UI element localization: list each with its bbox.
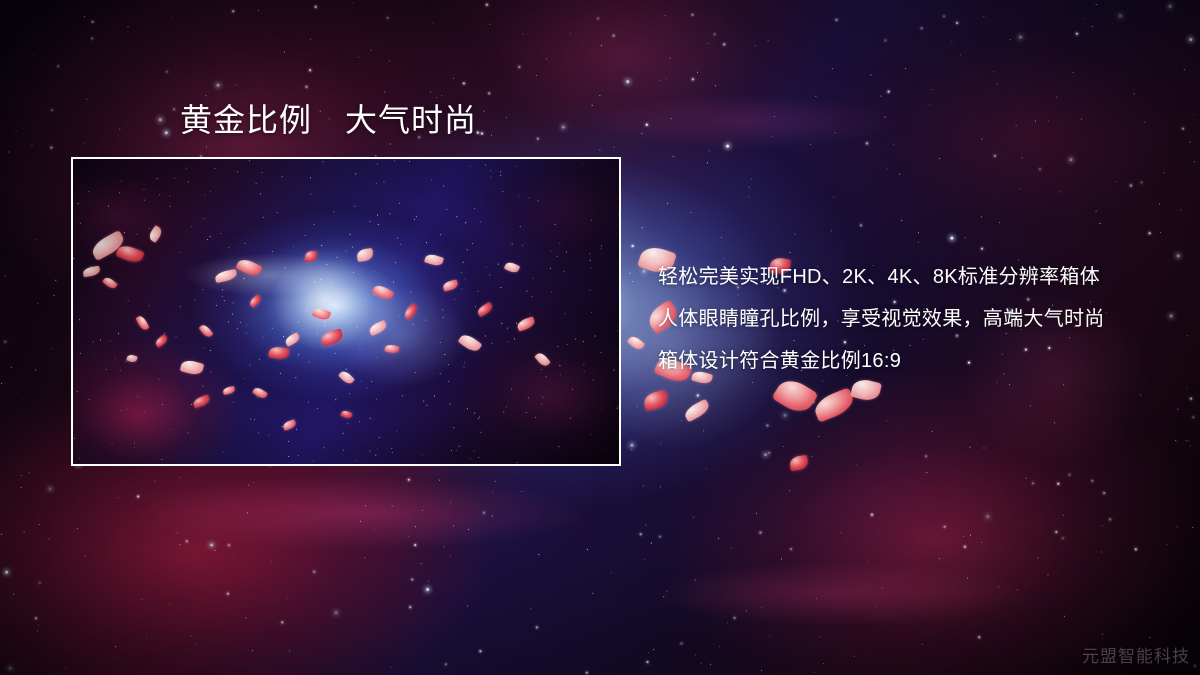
star — [1032, 482, 1034, 484]
star — [493, 492, 494, 493]
star — [670, 58, 671, 59]
star — [871, 514, 873, 516]
star — [171, 17, 172, 18]
star — [38, 625, 39, 626]
flower-petal — [682, 399, 711, 423]
star — [444, 546, 445, 547]
star — [335, 611, 338, 614]
star — [721, 237, 722, 238]
star — [731, 548, 732, 549]
star — [866, 142, 868, 144]
star — [1048, 574, 1049, 575]
star — [651, 543, 652, 544]
star — [479, 650, 481, 652]
star — [632, 245, 634, 247]
star — [888, 91, 890, 93]
star — [84, 556, 85, 557]
star — [518, 66, 520, 68]
star — [939, 158, 940, 159]
star — [390, 144, 391, 145]
star — [48, 538, 49, 539]
star — [918, 242, 919, 243]
star — [833, 197, 834, 198]
star — [1177, 409, 1178, 410]
star — [284, 52, 285, 53]
star — [764, 453, 767, 456]
star — [450, 502, 451, 503]
star — [925, 455, 927, 457]
star — [430, 92, 431, 93]
star — [546, 59, 547, 60]
star — [714, 33, 716, 35]
star — [1092, 26, 1093, 27]
star — [84, 143, 85, 144]
star — [453, 78, 454, 79]
star — [1194, 114, 1195, 115]
star — [467, 606, 468, 607]
star — [1170, 315, 1173, 318]
star — [759, 532, 761, 534]
star — [248, 485, 249, 486]
star — [854, 656, 855, 657]
star — [271, 561, 272, 562]
star — [1091, 480, 1093, 482]
star — [1189, 38, 1192, 41]
star — [680, 643, 682, 645]
star — [964, 546, 966, 548]
star — [644, 559, 645, 560]
star — [436, 97, 437, 98]
star — [965, 237, 966, 238]
star — [818, 436, 819, 437]
star — [1073, 72, 1074, 73]
star — [491, 135, 492, 136]
star — [660, 443, 661, 444]
star — [587, 549, 588, 550]
star — [1057, 483, 1059, 485]
slide-canvas: 黄金比例 大气时尚 轻松完美实现FHD、2K、4K、8K标准分辨率箱体 人体眼睛… — [0, 0, 1200, 675]
star — [1020, 188, 1021, 189]
star — [426, 588, 429, 591]
star — [761, 607, 762, 608]
star — [795, 234, 796, 235]
star — [166, 71, 168, 73]
star — [8, 152, 9, 153]
star — [409, 606, 411, 608]
star — [236, 84, 237, 85]
star — [768, 40, 769, 41]
star — [536, 626, 538, 628]
star — [206, 95, 207, 96]
star — [450, 555, 451, 556]
star — [832, 68, 833, 69]
star — [1149, 637, 1150, 638]
star — [365, 505, 366, 506]
star — [387, 17, 389, 19]
star — [649, 665, 650, 666]
star — [428, 581, 429, 582]
star — [289, 650, 290, 651]
body-line-3: 箱体设计符合黄金比例16:9 — [658, 340, 1158, 382]
star — [1010, 39, 1011, 40]
star — [306, 86, 308, 88]
star — [695, 580, 696, 581]
star — [856, 464, 857, 465]
star — [453, 525, 454, 526]
framed-picture — [71, 157, 621, 466]
star — [408, 479, 410, 481]
star — [783, 446, 784, 447]
star — [252, 650, 253, 651]
star — [1009, 384, 1010, 385]
star — [643, 270, 646, 273]
star — [789, 490, 790, 491]
star — [886, 420, 887, 421]
star — [165, 131, 168, 134]
star — [1186, 388, 1187, 389]
star — [180, 477, 181, 478]
star — [227, 593, 229, 595]
star — [761, 670, 762, 671]
star — [1062, 537, 1064, 539]
star — [996, 382, 997, 383]
star — [592, 593, 593, 594]
star — [506, 117, 507, 118]
star — [411, 579, 413, 581]
star — [173, 108, 175, 110]
star — [52, 348, 53, 349]
star — [215, 550, 216, 551]
star — [819, 637, 820, 638]
star — [814, 672, 815, 673]
star — [998, 586, 999, 587]
star — [784, 414, 787, 417]
star — [1192, 527, 1193, 528]
star — [1035, 121, 1036, 122]
star — [614, 147, 615, 148]
star — [118, 497, 119, 498]
star — [790, 252, 791, 253]
star — [599, 150, 600, 151]
star — [1140, 395, 1141, 396]
star — [315, 6, 317, 8]
star — [752, 382, 753, 383]
star — [210, 544, 213, 547]
star — [121, 465, 122, 466]
star — [1081, 119, 1082, 120]
star — [939, 558, 940, 559]
star — [1063, 384, 1064, 385]
star — [749, 187, 750, 188]
star — [1083, 18, 1084, 19]
star — [885, 117, 886, 118]
flower-petal — [811, 387, 856, 422]
star — [884, 39, 886, 41]
star — [1182, 128, 1184, 130]
star — [128, 26, 129, 27]
star — [477, 132, 479, 134]
star — [1102, 525, 1103, 526]
star — [1069, 474, 1071, 476]
star — [24, 532, 25, 533]
picture-vignette — [73, 159, 619, 464]
star — [358, 57, 359, 58]
star — [692, 14, 694, 16]
company-watermark: 元盟智能科技 — [1082, 642, 1190, 667]
star — [35, 617, 37, 619]
star — [645, 525, 646, 526]
star — [353, 2, 354, 3]
star — [536, 75, 537, 76]
star — [537, 138, 539, 140]
star — [619, 234, 620, 235]
star — [445, 663, 447, 665]
slide-body-text: 轻松完美实现FHD、2K、4K、8K标准分辨率箱体 人体眼睛瞳孔比例，享受视觉效… — [658, 256, 1158, 382]
star — [960, 54, 961, 55]
star — [384, 92, 385, 93]
star — [495, 481, 496, 482]
flower-petal — [627, 334, 646, 352]
star — [836, 19, 838, 21]
star — [1038, 558, 1039, 559]
star — [887, 168, 888, 169]
star — [309, 69, 311, 71]
star — [159, 118, 162, 121]
star — [1017, 589, 1018, 590]
star — [1167, 544, 1168, 545]
star — [154, 481, 155, 482]
star — [863, 393, 866, 396]
star — [648, 652, 649, 653]
star — [313, 571, 315, 573]
star — [769, 635, 770, 636]
star — [681, 420, 682, 421]
star — [1190, 398, 1192, 400]
star — [49, 487, 52, 490]
body-line-1: 轻松完美实现FHD、2K、4K、8K标准分辨率箱体 — [658, 256, 1158, 298]
star — [781, 559, 782, 560]
star — [1099, 223, 1100, 224]
star — [141, 599, 142, 600]
star — [647, 661, 649, 663]
star — [663, 596, 664, 597]
star — [956, 22, 958, 24]
star — [9, 667, 12, 670]
star — [970, 447, 971, 448]
star — [57, 65, 59, 67]
star — [1194, 665, 1196, 667]
star — [703, 430, 704, 431]
star — [389, 464, 390, 465]
star — [180, 544, 181, 545]
star — [756, 513, 757, 514]
star — [253, 482, 254, 483]
star — [718, 538, 719, 539]
star — [631, 449, 632, 450]
star — [984, 448, 985, 449]
star — [54, 295, 55, 296]
star — [983, 16, 984, 17]
star — [169, 604, 170, 605]
star — [562, 126, 565, 129]
star — [1016, 125, 1017, 126]
star — [929, 105, 930, 106]
star — [673, 156, 674, 157]
star — [360, 521, 361, 522]
star — [389, 61, 390, 62]
star — [1164, 172, 1165, 173]
star — [905, 68, 906, 69]
star — [1177, 254, 1180, 257]
star — [981, 248, 983, 250]
star — [1134, 93, 1135, 94]
star — [926, 472, 927, 473]
star — [709, 150, 710, 151]
star — [626, 80, 629, 83]
star — [772, 136, 773, 137]
star — [176, 533, 177, 534]
star — [146, 638, 147, 639]
star — [16, 392, 17, 393]
star — [1175, 440, 1176, 441]
star — [748, 196, 749, 197]
star — [1192, 416, 1194, 418]
star — [831, 230, 832, 231]
star — [1159, 204, 1160, 205]
star — [767, 425, 769, 427]
star — [867, 561, 868, 562]
star — [592, 105, 593, 106]
star — [1190, 445, 1191, 446]
star — [641, 133, 642, 134]
star — [1184, 69, 1185, 70]
star — [91, 37, 93, 39]
star — [1102, 634, 1103, 635]
star — [810, 144, 811, 145]
star — [999, 222, 1000, 223]
star — [1064, 616, 1065, 617]
star — [39, 582, 41, 584]
star — [37, 303, 38, 304]
star — [667, 203, 668, 204]
star — [84, 16, 85, 17]
star — [671, 118, 672, 119]
star — [586, 672, 588, 674]
star — [21, 487, 22, 488]
star — [1194, 161, 1195, 162]
star — [642, 227, 643, 228]
star — [281, 621, 283, 623]
star — [1076, 33, 1078, 35]
star — [978, 636, 980, 638]
star — [483, 111, 484, 112]
star — [486, 4, 488, 6]
star — [693, 517, 694, 518]
star — [137, 496, 139, 498]
star — [119, 129, 120, 130]
star — [1115, 181, 1116, 182]
star — [481, 133, 483, 135]
star — [1, 383, 2, 384]
star — [65, 667, 66, 668]
star — [392, 506, 393, 507]
flower-petal — [642, 390, 669, 412]
star — [708, 43, 709, 44]
star — [439, 480, 440, 481]
star — [646, 124, 648, 126]
star — [1048, 120, 1049, 121]
star — [483, 512, 485, 514]
star — [492, 516, 493, 517]
star — [981, 542, 982, 543]
star — [982, 139, 983, 140]
star — [1160, 232, 1161, 233]
star — [432, 23, 433, 24]
star — [667, 591, 668, 592]
star — [408, 536, 409, 537]
star — [310, 39, 311, 40]
star — [707, 162, 708, 163]
star — [114, 657, 115, 658]
star — [538, 554, 539, 555]
star — [232, 10, 234, 12]
star — [258, 10, 259, 11]
star — [1188, 440, 1189, 441]
star — [692, 78, 694, 80]
star — [489, 24, 490, 25]
star — [882, 588, 883, 589]
star — [1056, 97, 1057, 98]
star — [1190, 142, 1191, 143]
star — [1026, 478, 1027, 479]
star — [835, 132, 836, 133]
star — [217, 84, 220, 87]
star — [468, 529, 469, 530]
star — [530, 608, 531, 609]
star — [422, 510, 423, 511]
star — [4, 341, 6, 343]
star — [659, 536, 661, 538]
star — [1070, 158, 1073, 161]
star — [918, 232, 919, 233]
star — [1030, 406, 1031, 407]
star — [37, 630, 38, 631]
star — [840, 532, 841, 533]
star — [967, 578, 968, 579]
star — [637, 406, 638, 407]
star — [286, 598, 287, 599]
star — [1141, 182, 1143, 184]
star — [932, 431, 933, 432]
star — [374, 529, 375, 530]
star — [691, 212, 692, 213]
star — [391, 667, 392, 668]
star — [601, 45, 602, 46]
star — [893, 144, 894, 145]
star — [5, 571, 8, 574]
star — [951, 41, 952, 42]
star — [997, 83, 998, 84]
star — [653, 649, 654, 650]
star — [36, 239, 37, 240]
star — [1186, 440, 1187, 441]
star — [414, 544, 416, 546]
star — [371, 50, 372, 51]
star — [815, 96, 816, 97]
star — [899, 174, 900, 175]
star — [932, 89, 933, 90]
star — [792, 401, 793, 402]
